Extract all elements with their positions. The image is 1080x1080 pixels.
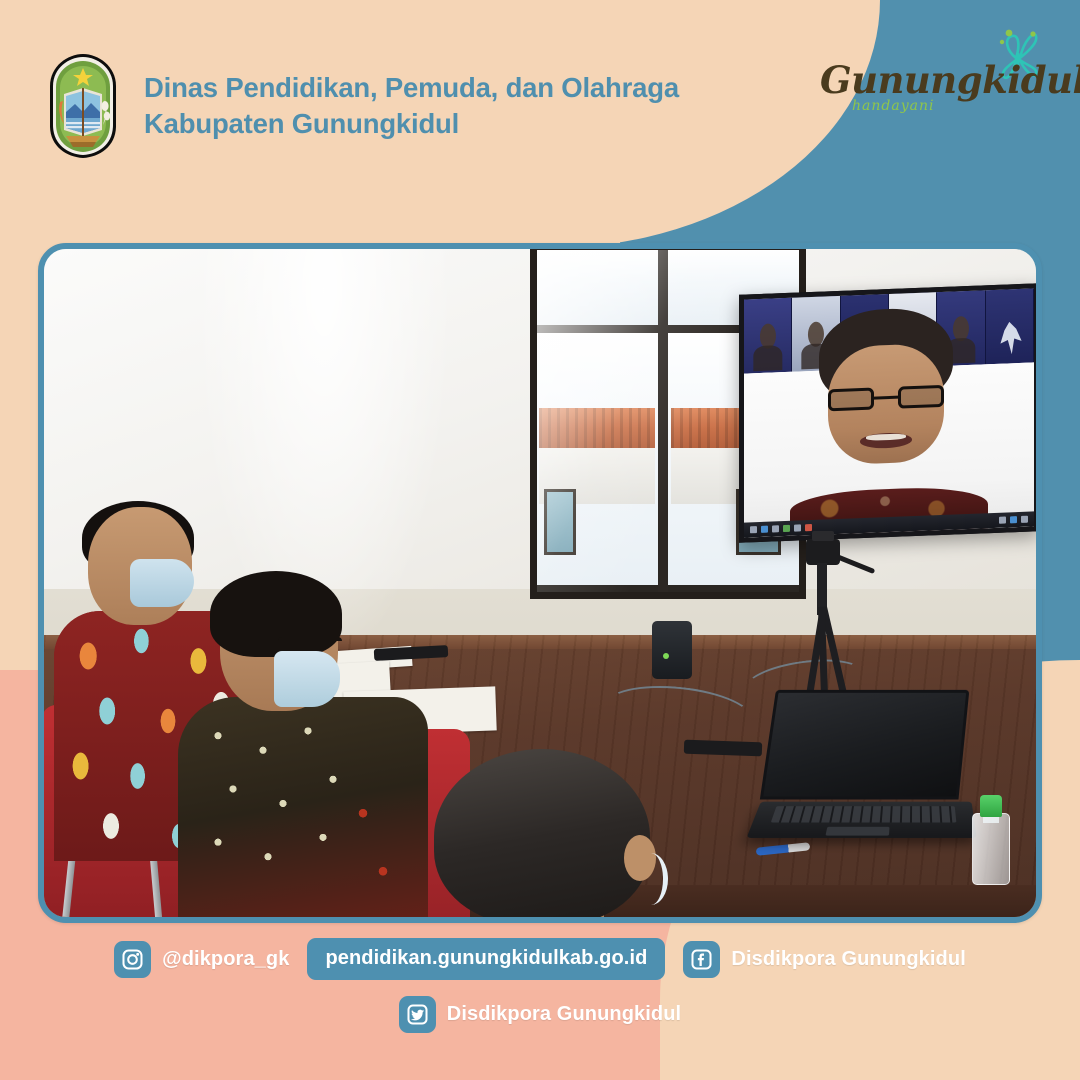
exterior-roof-tiles	[539, 408, 655, 448]
laptop-screen	[760, 690, 970, 800]
photo-frame	[38, 243, 1042, 923]
background-left-sliver	[0, 0, 40, 672]
twitter-handle[interactable]: Disdikpora Gunungkidul	[399, 996, 681, 1033]
wall-television	[739, 283, 1036, 543]
desk-speaker	[652, 621, 692, 679]
laptop-trackpad	[825, 827, 890, 835]
poster-canvas: Dinas Pendidikan, Pemuda, dan Olahraga K…	[0, 0, 1080, 1080]
face-mask	[274, 651, 340, 707]
instagram-label: @dikpora_gk	[162, 948, 289, 971]
laptop-keyboard	[770, 806, 956, 822]
laptop	[754, 689, 974, 849]
gunungkidul-brand-logo: Gunungkidul handayani	[814, 46, 1044, 134]
instagram-icon[interactable]	[114, 941, 151, 978]
window-pane-mid-left	[537, 332, 658, 585]
window-mullion-vertical	[658, 250, 668, 592]
instagram-handle[interactable]: @dikpora_gk	[114, 941, 289, 978]
participant-thumbnail	[744, 298, 792, 374]
hand-sanitizer-bottle	[968, 789, 1014, 885]
page-title: Dinas Pendidikan, Pemuda, dan Olahraga K…	[144, 70, 679, 143]
participant-thumbnail	[986, 288, 1034, 364]
social-footer: @dikpora_gk pendidikan.gunungkidulkab.go…	[0, 920, 1080, 1080]
facebook-icon[interactable]	[683, 941, 720, 978]
header: Dinas Pendidikan, Pemuda, dan Olahraga K…	[44, 52, 679, 160]
window-pane-top-left	[537, 250, 658, 325]
twitter-icon[interactable]	[399, 996, 436, 1033]
eyeglasses-icon	[278, 637, 342, 653]
hair	[434, 749, 650, 917]
laptop-base	[746, 802, 976, 838]
attendee-foreground	[334, 749, 754, 917]
exterior-window	[544, 489, 575, 555]
social-row-secondary: Disdikpora Gunungkidul	[0, 996, 1080, 1033]
website-link[interactable]: pendidikan.gunungkidulkab.go.id	[307, 938, 665, 980]
gunungkidul-regency-crest-icon	[44, 52, 122, 160]
facebook-handle[interactable]: Disdikpora Gunungkidul	[683, 941, 965, 978]
face-mask-strap	[634, 853, 668, 905]
brand-wordmark: Gunungkidul	[820, 62, 1080, 99]
brand-tagline: handayani	[852, 98, 934, 114]
tv-screen	[744, 288, 1034, 537]
title-line-1: Dinas Pendidikan, Pemuda, dan Olahraga	[144, 72, 679, 103]
speaker-glasses-icon	[828, 385, 944, 411]
facebook-label: Disdikpora Gunungkidul	[731, 948, 965, 971]
social-row-primary: @dikpora_gk pendidikan.gunungkidulkab.go…	[0, 938, 1080, 980]
title-line-2: Kabupaten Gunungkidul	[144, 106, 679, 142]
twitter-label: Disdikpora Gunungkidul	[447, 1003, 681, 1026]
meeting-photo	[44, 249, 1036, 917]
video-call-main-speaker	[744, 362, 1034, 537]
